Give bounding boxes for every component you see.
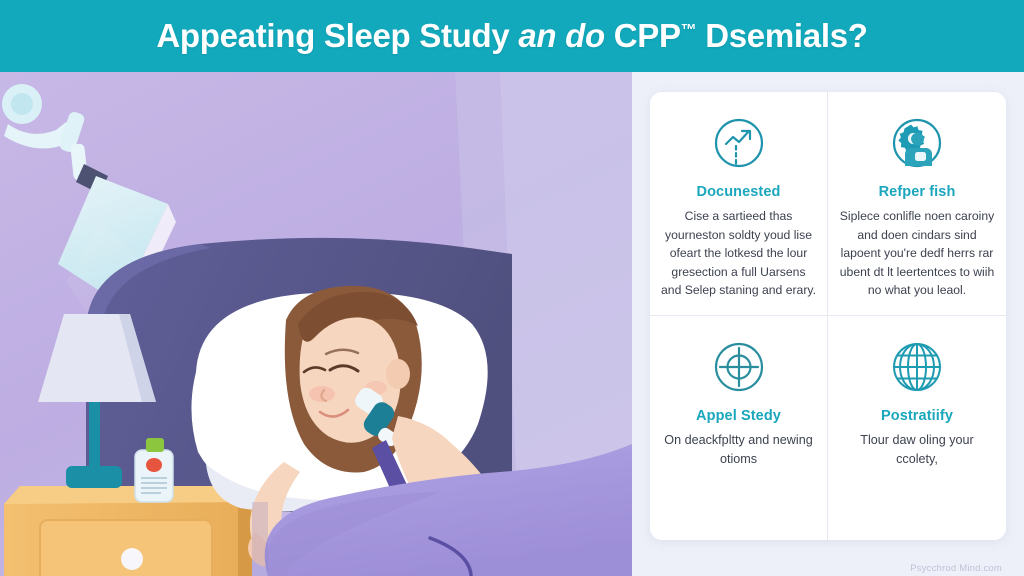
card-body: On deackfpltty and newing otioms — [660, 431, 817, 469]
page-title-part1: Appeating Sleep Study — [156, 17, 518, 54]
watermark: Psycchrod Mind.com — [910, 563, 1002, 574]
infographic-root: Appeating Sleep Study an do CPP™ Dsemial… — [0, 0, 1024, 576]
cards-panel: Docunested Cise a sartieed thas yournest… — [632, 72, 1024, 576]
header-banner: Appeating Sleep Study an do CPP™ Dsemial… — [0, 0, 1024, 72]
drawer-knob — [121, 548, 143, 570]
page-title-italic: an do — [518, 17, 605, 54]
card-refper-fish[interactable]: Refper fish Siplece conlifle noen caroin… — [828, 92, 1006, 316]
card-postratiify[interactable]: Postratiify Tlour daw oling your ccolety… — [828, 316, 1006, 540]
gear-person-icon — [882, 108, 952, 178]
card-grid: Docunested Cise a sartieed thas yournest… — [650, 92, 1006, 540]
card-title: Refper fish — [879, 184, 956, 200]
page-title-part2: CPP — [605, 17, 681, 54]
page-title: Appeating Sleep Study an do CPP™ Dsemial… — [156, 17, 867, 55]
trending-up-arrow-icon — [704, 108, 774, 178]
card-body: Tlour daw oling your ccolety, — [838, 431, 996, 469]
card-title: Postratiify — [881, 408, 953, 424]
card-title: Appel Stedy — [696, 408, 781, 424]
bedroom-illustration — [0, 72, 632, 576]
card-docunested[interactable]: Docunested Cise a sartieed thas yournest… — [650, 92, 828, 316]
crosshair-target-icon — [704, 332, 774, 402]
card-title: Docunested — [697, 184, 781, 200]
page-title-part3: Dsemials? — [696, 17, 867, 54]
trademark-symbol: ™ — [681, 22, 697, 39]
card-body: Siplece conlifle noen caroiny and doen c… — [838, 207, 996, 300]
globe-grid-icon — [882, 332, 952, 402]
card-appel-stedy[interactable]: Appel Stedy On deackfpltty and newing ot… — [650, 316, 828, 540]
card-body: Cise a sartieed thas yourneston soldty y… — [660, 207, 817, 300]
